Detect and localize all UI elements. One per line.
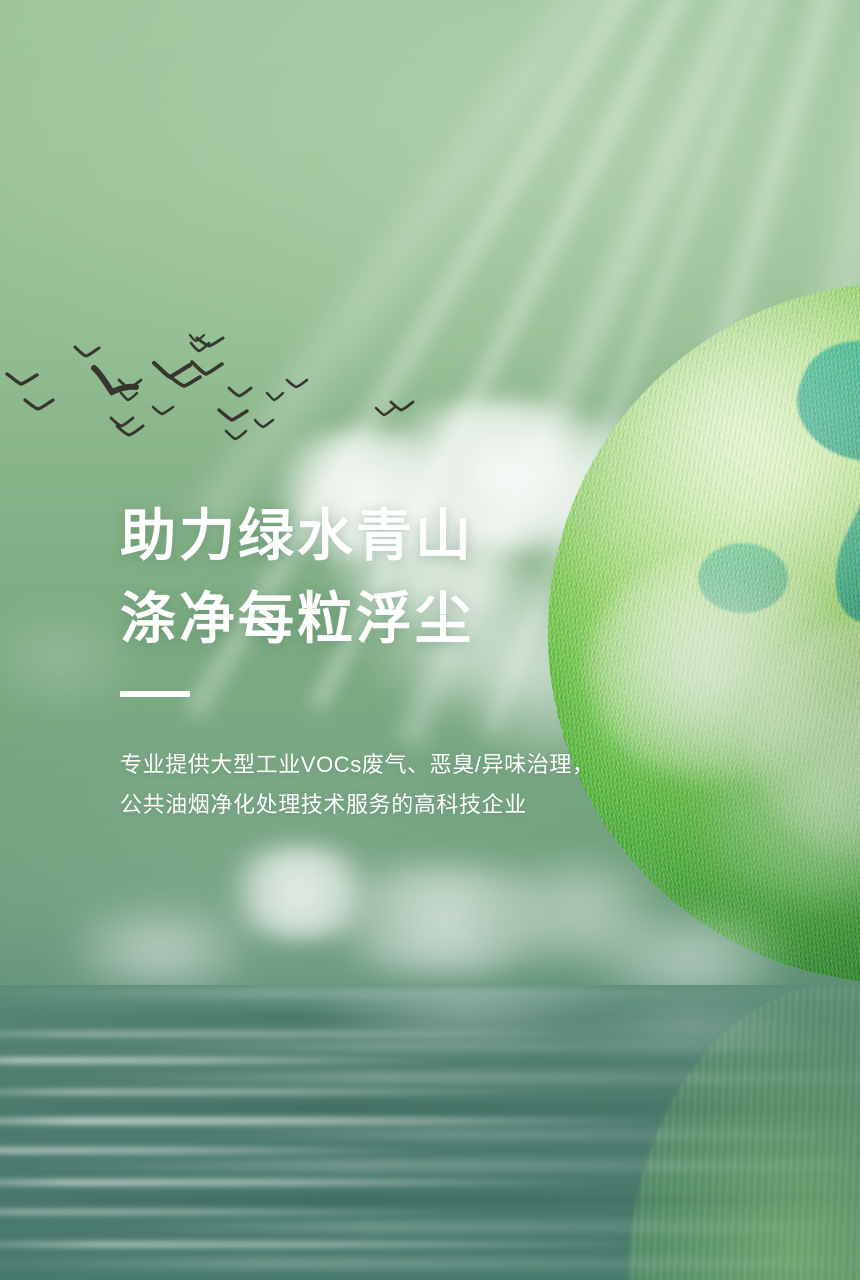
water-surface [0, 985, 860, 1280]
subtitle-block: 专业提供大型工业VOCs废气、恶臭/异味治理， 公共油烟净化处理技术服务的高科技… [120, 745, 720, 825]
subtitle-line-1: 专业提供大型工业VOCs废气、恶臭/异味治理， [120, 745, 720, 785]
bird-icon [120, 392, 138, 402]
bird-icon [390, 400, 414, 413]
bird-icon [228, 386, 252, 399]
bird-icon [191, 360, 223, 378]
bird-icon [152, 405, 174, 417]
headline-line-2: 涤净每粒浮尘 [120, 578, 720, 661]
bird-icon [110, 416, 134, 429]
bird-flock [0, 330, 470, 470]
poster-canvas: 助力绿水青山 涤净每粒浮尘 专业提供大型工业VOCs废气、恶臭/异味治理， 公共… [0, 0, 860, 1280]
bird-icon [24, 398, 54, 414]
bird-icon [286, 378, 308, 390]
bird-icon [218, 408, 248, 424]
bird-icon [225, 430, 247, 442]
divider-rule [120, 691, 190, 697]
bird-icon [6, 372, 40, 390]
bird-icon [152, 360, 192, 382]
headline-line-1: 助力绿水青山 [120, 495, 720, 578]
bird-icon [189, 334, 205, 343]
subtitle-line-2: 公共油烟净化处理技术服务的高科技企业 [120, 785, 720, 825]
bird-icon [74, 346, 100, 360]
copy-block: 助力绿水青山 涤净每粒浮尘 专业提供大型工业VOCs废气、恶臭/异味治理， 公共… [120, 495, 720, 825]
bird-icon [266, 392, 284, 402]
bird-icon [118, 378, 142, 391]
bird-icon [254, 418, 274, 430]
